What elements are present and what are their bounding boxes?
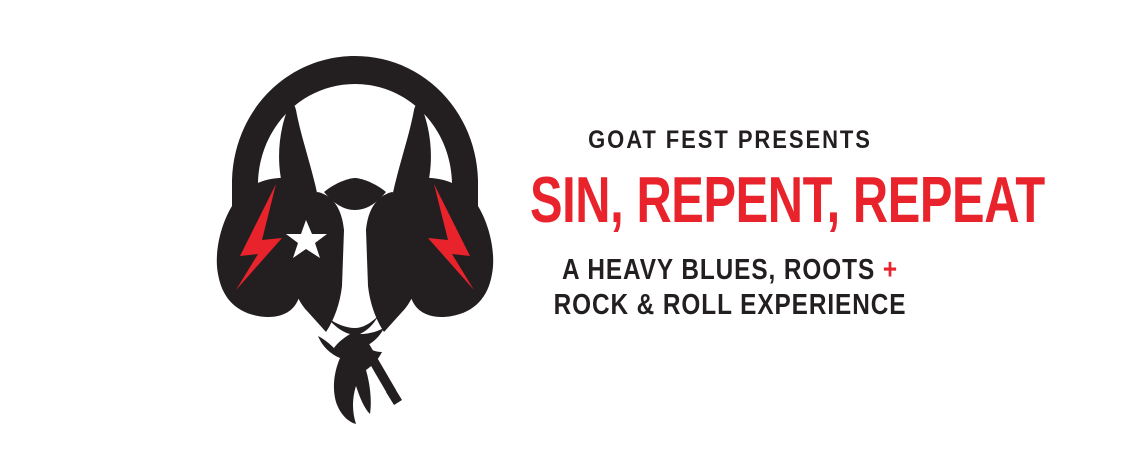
subhead: A HEAVY BLUES, ROOTS + ROCK & ROLL EXPER… — [520, 253, 940, 324]
plus-icon: + — [883, 254, 898, 286]
goat-head-headphones-logo — [200, 42, 510, 432]
eyebrow-presents: GOAT FEST PRESENTS — [510, 128, 950, 153]
goat-face-left-icon — [292, 192, 344, 332]
page-title: SIN, REPENT, REPEAT — [530, 168, 930, 233]
goat-face-right-icon — [366, 192, 418, 332]
subhead-line-1: A HEAVY BLUES, ROOTS + — [520, 253, 940, 288]
subhead-line-2: ROCK & ROLL EXPERIENCE — [520, 288, 940, 323]
subhead-line-1-text: A HEAVY BLUES, ROOTS — [562, 254, 883, 286]
poster-canvas: GOAT FEST PRESENTS SIN, REPENT, REPEAT A… — [0, 0, 1140, 475]
poster-text-block: GOAT FEST PRESENTS SIN, REPENT, REPEAT A… — [480, 128, 980, 324]
